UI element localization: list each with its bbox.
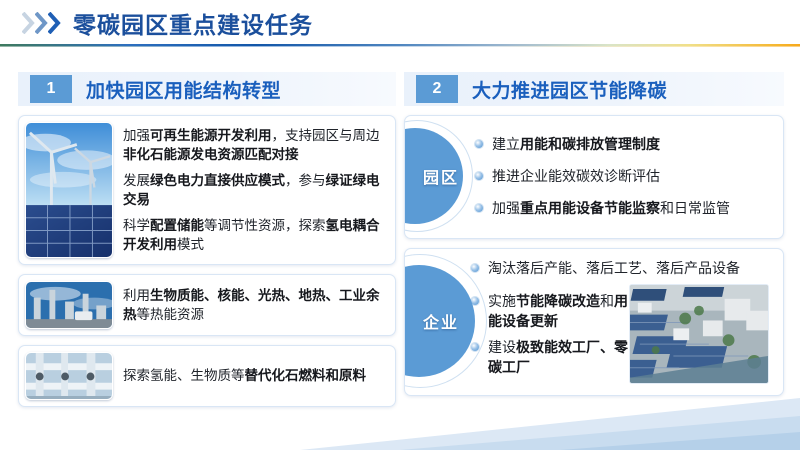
task-card-text-group: 利用生物质能、核能、光热、地热、工业余热等热能资源 <box>113 281 389 329</box>
bullet-text: 建设极致能效工厂、零碳工厂 <box>488 337 629 378</box>
task-text: 利用生物质能、核能、光热、地热、工业余热等热能资源 <box>123 286 385 324</box>
section-2-title: 大力推进园区节能降碳 <box>472 76 667 103</box>
section-2-header: 2 大力推进园区节能降碳 <box>404 72 784 106</box>
bullet-text: 建立用能和碳排放管理制度 <box>492 134 660 154</box>
section-1-header: 1 加快园区用能结构转型 <box>18 72 396 106</box>
bullet-dot-icon <box>475 172 483 180</box>
bullet-text: 实施节能降碳改造和用能设备更新 <box>488 291 629 332</box>
section-2-number-badge: 2 <box>416 75 458 103</box>
group-label: 园区 <box>423 164 459 188</box>
wind-turbine-solar-panel-photo <box>25 122 113 258</box>
industrial-plant-photo <box>25 281 113 329</box>
slide-root: 零碳园区重点建设任务 1 加快园区用能结构转型 <box>0 0 800 450</box>
list-item: 加强重点用能设备节能监察和日常监管 <box>475 198 775 218</box>
task-text: 发展绿色电力直接供应模式，参与绿证绿电交易 <box>123 171 385 209</box>
list-item: 推进企业能效碳效诊断评估 <box>475 166 775 186</box>
page-title: 零碳园区重点建设任务 <box>73 6 313 40</box>
section-1-number-badge: 1 <box>30 75 72 103</box>
section-1-title: 加快园区用能结构转型 <box>86 76 281 103</box>
task-group-card[interactable]: 园区 建立用能和碳排放管理制度 推进企业能效碳效诊断评估 加强重点用能设备节能监… <box>404 115 784 239</box>
task-card[interactable]: 探索氢能、生物质等替代化石燃料和原料 <box>18 345 396 407</box>
bullet-text: 推进企业能效碳效诊断评估 <box>492 166 660 186</box>
bullet-dot-icon <box>475 204 483 212</box>
bullet-text: 加强重点用能设备节能监察和日常监管 <box>492 198 730 218</box>
bullet-dot-icon <box>475 140 483 148</box>
task-text: 科学配置储能等调节性资源，探索氢电耦合开发利用模式 <box>123 216 385 254</box>
task-card-text-group: 加强可再生能源开发利用，支持园区与周边非化石能源发电资源匹配对接 发展绿色电力直… <box>113 122 389 258</box>
task-card[interactable]: 加强可再生能源开发利用，支持园区与周边非化石能源发电资源匹配对接 发展绿色电力直… <box>18 115 396 265</box>
task-card-text-group: 探索氢能、生物质等替代化石燃料和原料 <box>113 352 389 400</box>
bullet-text: 淘汰落后产能、落后工艺、落后产品设备 <box>488 258 740 278</box>
list-item: 建设极致能效工厂、零碳工厂 <box>471 337 629 378</box>
list-item: 淘汰落后产能、落后工艺、落后产品设备 <box>471 258 769 278</box>
task-card[interactable]: 利用生物质能、核能、光热、地热、工业余热等热能资源 <box>18 274 396 336</box>
task-group-card[interactable]: 企业 淘汰落后产能、落后工艺、落后产品设备 实施节能降碳改造和用能设备更新 <box>404 248 784 396</box>
list-item: 实施节能降碳改造和用能设备更新 <box>471 291 629 332</box>
section-1-column: 1 加快园区用能结构转型 <box>18 72 396 407</box>
list-item: 建立用能和碳排放管理制度 <box>475 134 775 154</box>
bullet-list: 建立用能和碳排放管理制度 推进企业能效碳效诊断评估 加强重点用能设备节能监察和日… <box>475 122 775 230</box>
bullet-dot-icon <box>471 264 479 272</box>
task-text: 探索氢能、生物质等替代化石燃料和原料 <box>123 366 385 385</box>
group-label: 企业 <box>423 309 459 333</box>
aerial-rooftop-solar-factory-photo <box>629 284 769 384</box>
task-text: 加强可再生能源开发利用，支持园区与周边非化石能源发电资源匹配对接 <box>123 126 385 164</box>
slide-title-row: 零碳园区重点建设任务 <box>0 6 800 40</box>
section-2-column: 2 大力推进园区节能降碳 园区 建立用能和碳排放管理制度 推进企业能效碳效诊断评… <box>404 72 784 396</box>
pipeline-facility-photo <box>25 352 113 400</box>
title-divider <box>0 44 800 47</box>
double-chevron-right-icon <box>22 12 61 34</box>
